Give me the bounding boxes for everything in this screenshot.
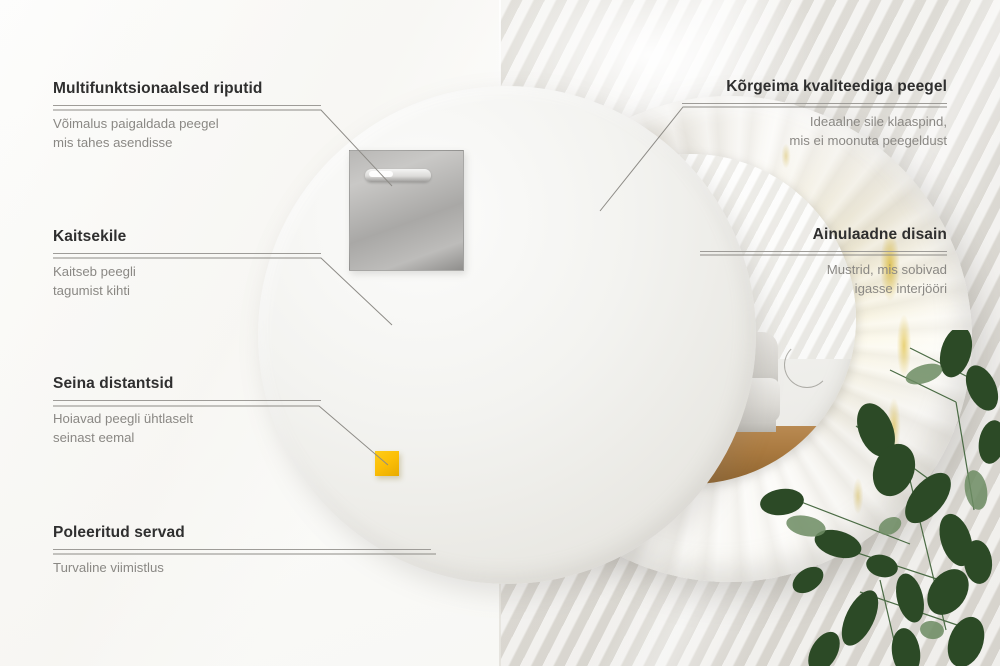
- callout-desc-line1: Võimalus paigaldada peegel: [53, 116, 219, 131]
- callout-desc-line1: Mustrid, mis sobivad: [827, 262, 947, 277]
- callout-desc-line2: seinast eemal: [53, 430, 134, 445]
- callout-desc: Võimalus paigaldada peegel mis tahes ase…: [53, 115, 321, 152]
- callout-rule: [53, 105, 321, 106]
- wall-spacer: [375, 451, 399, 476]
- foliage-decoration: [760, 330, 1000, 666]
- callout-hangers: Multifunktsionaalsed riputid Võimalus pa…: [53, 80, 321, 152]
- callout-polished-edges: Poleeritud servad Turvaline viimistlus: [53, 524, 431, 578]
- callout-desc: Hoiavad peegli ühtlaselt seinast eemal: [53, 410, 321, 447]
- callout-wall-spacers: Seina distantsid Hoiavad peegli ühtlasel…: [53, 375, 321, 447]
- callout-desc-line1: Hoiavad peegli ühtlaselt: [53, 411, 193, 426]
- callout-rule: [53, 549, 431, 550]
- callout-rule: [682, 103, 947, 104]
- callout-title: Seina distantsid: [53, 375, 321, 393]
- callout-protective-film: Kaitsekile Kaitseb peegli tagumist kihti: [53, 228, 321, 300]
- callout-desc-line1: Kaitseb peegli: [53, 264, 136, 279]
- callout-title: Ainulaadne disain: [700, 226, 947, 244]
- callout-title: Kõrgeima kvaliteediga peegel: [682, 78, 947, 96]
- mirror-polished-edge: [258, 86, 756, 584]
- callout-desc-line2: mis ei moonuta peegeldust: [789, 133, 947, 148]
- callout-desc-line2: igasse interjööri: [855, 281, 947, 296]
- callout-rule: [53, 400, 321, 401]
- callout-rule: [700, 251, 947, 252]
- callout-title: Multifunktsionaalsed riputid: [53, 80, 321, 98]
- callout-desc: Mustrid, mis sobivad igasse interjööri: [700, 261, 947, 298]
- callout-desc-line1: Turvaline viimistlus: [53, 560, 164, 575]
- callout-rule: [53, 253, 321, 254]
- callout-desc: Ideaalne sile klaaspind, mis ei moonuta …: [682, 113, 947, 150]
- callout-title: Poleeritud servad: [53, 524, 431, 542]
- infographic-canvas: Multifunktsionaalsed riputid Võimalus pa…: [0, 0, 1000, 666]
- callout-desc: Turvaline viimistlus: [53, 559, 431, 578]
- hanger-plate: [349, 150, 464, 271]
- callout-title: Kaitsekile: [53, 228, 321, 246]
- callout-desc-line1: Ideaalne sile klaaspind,: [810, 114, 947, 129]
- callout-desc: Kaitseb peegli tagumist kihti: [53, 263, 321, 300]
- callout-quality-mirror: Kõrgeima kvaliteediga peegel Ideaalne si…: [682, 78, 947, 150]
- callout-unique-design: Ainulaadne disain Mustrid, mis sobivad i…: [700, 226, 947, 298]
- leaves-icon: [760, 330, 1000, 666]
- hanger-slot-icon: [365, 169, 431, 182]
- callout-desc-line2: tagumist kihti: [53, 283, 130, 298]
- callout-desc-line2: mis tahes asendisse: [53, 135, 172, 150]
